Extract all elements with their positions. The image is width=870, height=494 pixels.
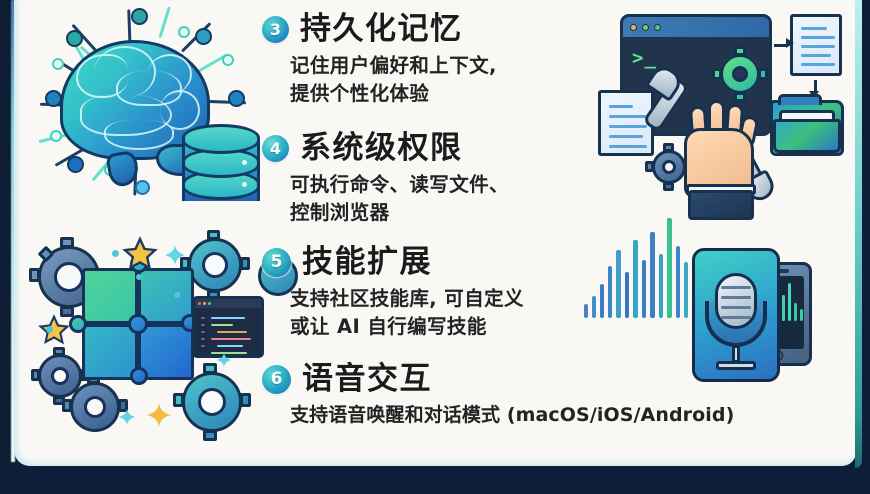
database-led [242,182,247,187]
infographic-root: >_ [0,0,870,494]
sparkle-icon [216,352,232,368]
gear-icon [188,238,242,292]
neuron-node [178,26,190,38]
puzzle-gears-illustration [24,232,274,432]
feature-entry-5: 5 技能扩展 支持社区技能库, 可自定义 或让 AI 自行编写技能 [262,247,524,340]
star-icon [122,236,158,272]
neuron-node [222,54,234,66]
neuron-node [228,90,245,107]
feature-title-6: 语音交互 [302,364,432,395]
desc-line: 或让 AI 自行编写技能 [290,313,524,341]
code-editor-titlebar [195,299,261,308]
desc-line: 记住用户偏好和上下文, [290,52,497,80]
dot [46,326,53,333]
feature-heading-5: 5 技能扩展 [262,247,524,278]
feature-desc-6: 支持语音唤醒和对话模式 (macOS/iOS/Android) [290,402,734,429]
document-icon [790,14,842,76]
feature-heading-6: 6 语音交互 [262,364,734,395]
feature-heading-3: 3 持久化记忆 [262,14,497,45]
dot [174,292,180,298]
puzzle-piece [82,268,138,324]
folder-tab [778,94,822,105]
dot [136,274,142,280]
feature-title-4: 系统级权限 [300,133,463,164]
brain-fold [148,54,192,94]
code-editor-window [192,296,264,358]
gear-icon [70,382,120,432]
puzzle-icon [82,268,194,380]
content-card: >_ [14,0,856,466]
gear-icon [182,372,242,432]
desc-line: 支持语音唤醒和对话模式 (macOS/iOS/Android) [290,402,734,429]
puzzle-knob [69,315,87,333]
desc-line: 控制浏览器 [290,199,509,227]
sparkle-icon [118,408,136,426]
feature-entry-3: 3 持久化记忆 记住用户偏好和上下文, 提供个性化体验 [262,14,497,107]
badge-number-3: 3 [262,16,289,43]
star-icon [38,314,70,346]
badge-number-5: 5 [262,248,291,277]
desc-line: 可执行命令、读写文件、 [290,171,509,199]
feature-heading-4: 4 系统级权限 [262,133,509,164]
feature-entry-6: 6 语音交互 支持语音唤醒和对话模式 (macOS/iOS/Android) [262,364,734,429]
frame-bottom-border [0,464,870,494]
neuron-spoke [159,6,171,37]
brain-fold [104,120,174,150]
badge-number-4: 4 [262,135,289,162]
arrow-right-icon [786,38,794,48]
feature-title-5: 技能扩展 [302,247,432,278]
dot [112,250,119,257]
feature-entry-4: 4 系统级权限 可执行命令、读写文件、 控制浏览器 [262,133,509,226]
neuron-node [135,180,150,195]
brain-database-illustration [32,4,262,219]
puzzle-knob [130,367,148,385]
text-column: 3 持久化记忆 记住用户偏好和上下文, 提供个性化体验 4 系统级权限 可执行命… [262,0,782,466]
sparkle-icon [164,244,186,266]
feature-desc-3: 记住用户偏好和上下文, 提供个性化体验 [290,52,497,107]
database-icon [182,124,260,216]
desc-line: 支持社区技能库, 可自定义 [290,285,524,313]
puzzle-knob [128,314,148,334]
neuron-node [131,8,148,25]
right-accent-line [855,0,862,468]
database-led [242,160,247,165]
puzzle-piece [82,324,138,380]
feature-title-3: 持久化记忆 [300,14,463,45]
feature-desc-5: 支持社区技能库, 可自定义 或让 AI 自行编写技能 [290,285,524,340]
sparkle-icon [146,402,172,428]
folder-front [773,119,841,153]
desc-line: 提供个性化体验 [290,80,497,108]
badge-number-6: 6 [262,365,291,394]
feature-desc-4: 可执行命令、读写文件、 控制浏览器 [290,171,509,226]
database-disc [182,124,260,154]
